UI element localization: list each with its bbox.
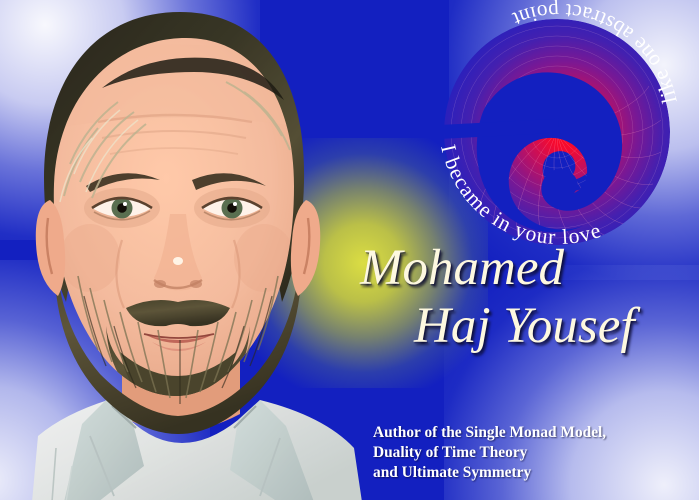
author-credits-line-3: and Ultimate Symmetry: [373, 463, 693, 483]
portrait-image: [0, 0, 368, 500]
author-name-line-2: Haj Yousef: [352, 300, 692, 352]
author-name-line-1: Mohamed: [352, 242, 692, 294]
poster-canvas: I became in your love like one abstract …: [0, 0, 699, 500]
author-credits-line-2: Duality of Time Theory: [373, 443, 693, 463]
author-credits-line-1: Author of the Single Monad Model,: [373, 423, 693, 443]
author-name: Mohamed Haj Yousef: [352, 242, 692, 352]
spiral-vortex-emblem: [443, 18, 671, 246]
author-credits: Author of the Single Monad Model, Dualit…: [373, 423, 693, 483]
portrait-photo: [0, 0, 368, 500]
